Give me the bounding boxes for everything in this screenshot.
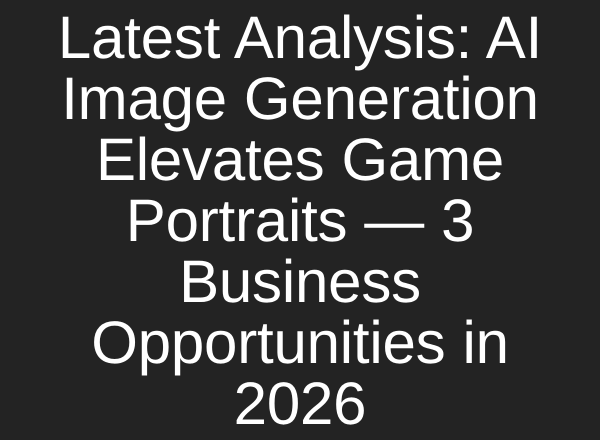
page-title: Latest Analysis: AI Image Generation Ele… <box>28 7 572 434</box>
headline-block: Latest Analysis: AI Image Generation Ele… <box>28 7 572 434</box>
headline-card: Latest Analysis: AI Image Generation Ele… <box>0 0 600 440</box>
